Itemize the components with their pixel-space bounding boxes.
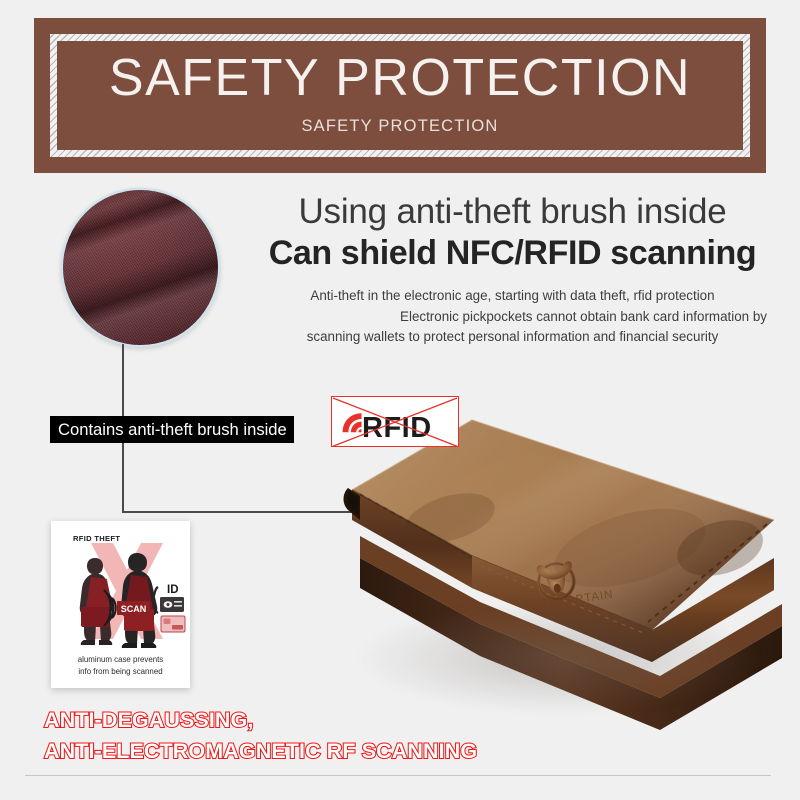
body-line-2: Electronic pickpockets cannot obtain ban…	[250, 307, 775, 327]
connector-line-vertical-lower	[122, 441, 124, 512]
footer-line-1: ANTI-DEGAUSSING,	[44, 705, 477, 736]
headings-block: Using anti-theft brush inside Can shield…	[250, 192, 775, 347]
theft-card-caption: aluminum case prevents info from being s…	[51, 654, 190, 677]
banner-title: SAFETY PROTECTION	[109, 52, 691, 104]
fabric-color-tint	[63, 190, 218, 345]
banner-subtitle: SAFETY PROTECTION	[301, 117, 498, 136]
heading-line-2: Can shield NFC/RFID scanning	[250, 233, 775, 273]
body-line-1: Anti-theft in the electronic age, starti…	[250, 286, 775, 306]
theft-card-title: RFID THEFT	[73, 534, 120, 543]
scan-label-text: SCAN	[121, 604, 147, 614]
footer-line-2: ANTI-ELECTROMAGNETIC RF SCANNING	[44, 736, 477, 767]
heading-line-1: Using anti-theft brush inside	[250, 192, 775, 231]
rfid-cross-out-x-icon	[332, 397, 458, 447]
heading-body: Anti-theft in the electronic age, starti…	[250, 286, 775, 347]
id-card-icon-pink	[161, 616, 185, 632]
anti-theft-brush-label: Contains anti-theft brush inside	[50, 416, 294, 443]
footer-headline: ANTI-DEGAUSSING, ANTI-ELECTROMAGNETIC RF…	[44, 705, 477, 766]
banner-hatched-border: SAFETY PROTECTION SAFETY PROTECTION	[50, 34, 750, 157]
id-label-text: ID	[167, 584, 179, 596]
connector-line-vertical-upper	[122, 344, 124, 419]
body-line-3: scanning wallets to protect personal inf…	[250, 327, 775, 347]
caption-line-2: info from being scanned	[51, 666, 190, 677]
rfid-theft-illustration-card: RFID THEFT	[51, 521, 190, 688]
fabric-closeup-circle-icon	[63, 190, 218, 345]
wallet-drop-shadow	[360, 603, 760, 713]
wallet-product-image: BULLCAPTAIN	[330, 408, 800, 738]
footer-divider	[25, 775, 771, 776]
infographic-page: SAFETY PROTECTION SAFETY PROTECTION Usin…	[0, 0, 800, 800]
rfid-blocked-badge: RFID	[331, 396, 459, 447]
header-banner: SAFETY PROTECTION SAFETY PROTECTION	[34, 18, 766, 173]
banner-inner: SAFETY PROTECTION SAFETY PROTECTION	[57, 41, 743, 150]
caption-line-1: aluminum case prevents	[51, 654, 190, 665]
id-card-icon-dark	[160, 597, 184, 612]
theft-card-artwork: SCAN ID	[51, 521, 190, 657]
